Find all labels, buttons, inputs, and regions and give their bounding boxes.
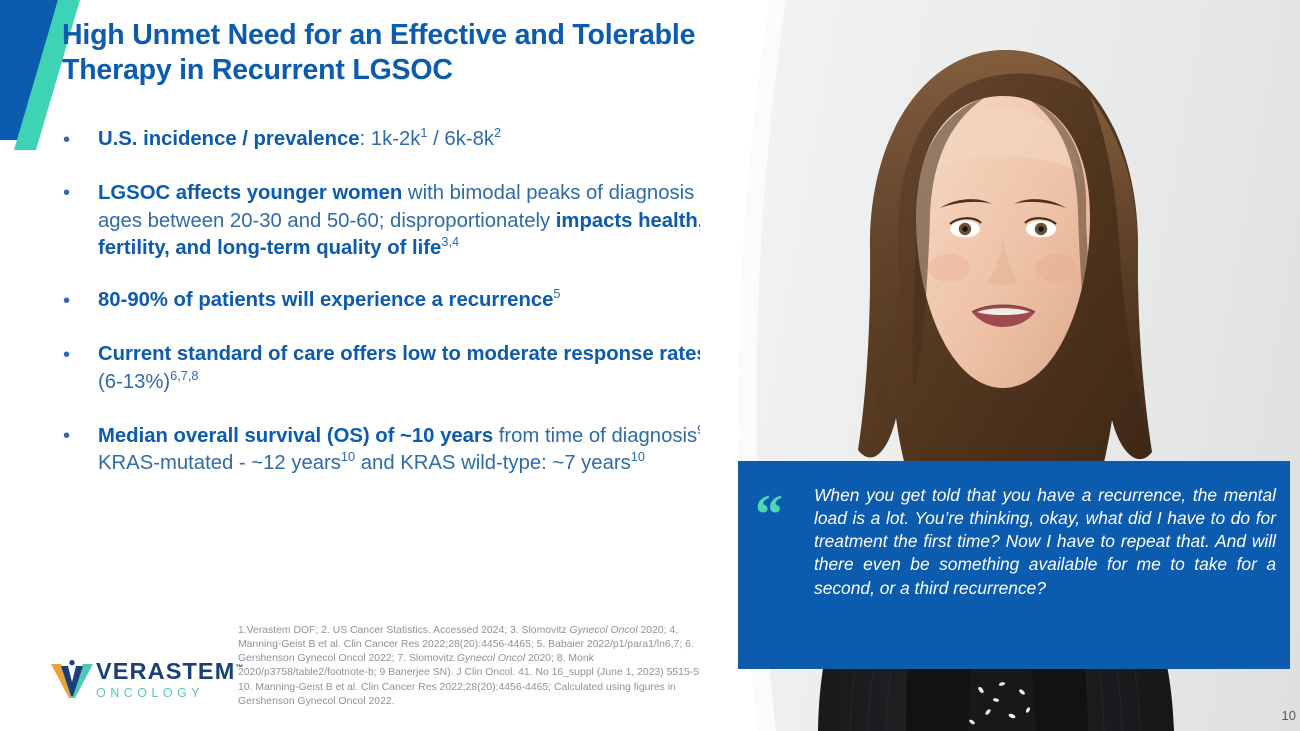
key-points-list: • U.S. incidence / prevalence: 1k-2k1 / …	[58, 126, 730, 478]
bullet-marker: •	[63, 342, 70, 370]
list-item-younger-women: • LGSOC affects younger women with bimod…	[58, 180, 730, 263]
list-item-text: U.S. incidence / prevalence: 1k-2k1 / 6k…	[98, 128, 501, 150]
slide: High Unmet Need for an Effective and Tol…	[0, 0, 1300, 731]
page-title: High Unmet Need for an Effective and Tol…	[62, 18, 722, 89]
list-item-text: Median overall survival (OS) of ~10 year…	[98, 425, 710, 475]
quote-text: When you get told that you have a recurr…	[814, 484, 1276, 600]
list-item-text: 80-90% of patients will experience a rec…	[98, 289, 561, 311]
logo-tagline: ONCOLOGY	[96, 687, 243, 700]
list-item-incidence: • U.S. incidence / prevalence: 1k-2k1 / …	[58, 126, 730, 154]
list-item-text: Current standard of care offers low to m…	[98, 343, 708, 393]
list-item-recurrence: • 80-90% of patients will experience a r…	[58, 287, 730, 315]
bullet-marker: •	[63, 127, 70, 155]
slide-number: 10	[1282, 708, 1296, 723]
logo-wordmark: VERASTEM™ ONCOLOGY	[96, 660, 243, 699]
list-item-overall-survival: • Median overall survival (OS) of ~10 ye…	[58, 423, 730, 479]
verastem-oncology-logo: VERASTEM™ ONCOLOGY	[50, 658, 220, 706]
logo-company-name: VERASTEM™	[96, 660, 243, 684]
list-item-standard-of-care: • Current standard of care offers low to…	[58, 341, 730, 397]
bullet-marker: •	[63, 288, 70, 316]
patient-quote-callout: “ When you get told that you have a recu…	[738, 461, 1290, 669]
bullet-marker: •	[63, 423, 70, 451]
verastem-v-mark-icon	[50, 660, 94, 702]
quotation-mark-icon: “	[755, 487, 783, 543]
bullet-marker: •	[63, 180, 70, 208]
footnote-references: 1.Verastem DOF; 2. US Cancer Statistics.…	[238, 624, 724, 709]
list-item-text: LGSOC affects younger women with bimodal…	[98, 182, 717, 260]
